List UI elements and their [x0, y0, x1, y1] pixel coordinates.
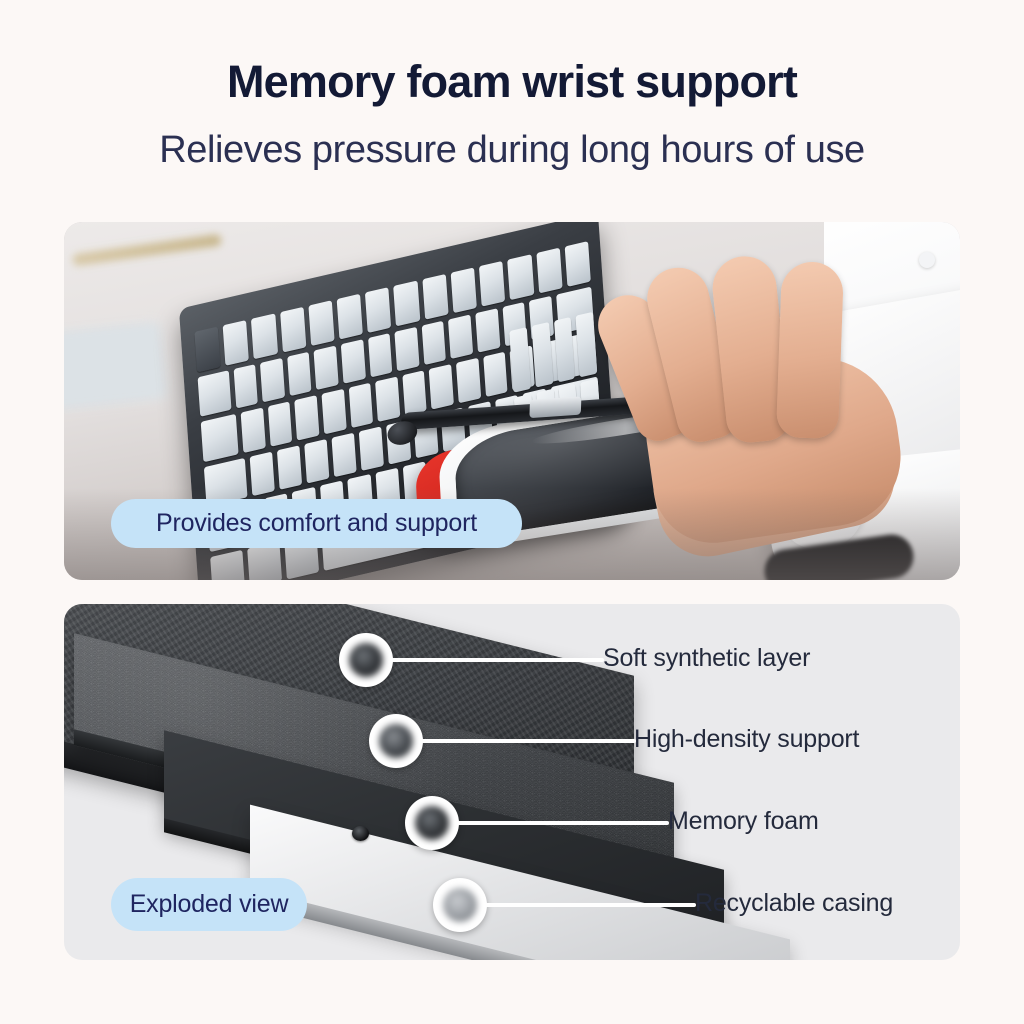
- page-header: Memory foam wrist support Relieves press…: [0, 0, 1024, 169]
- marker-core: [349, 643, 383, 677]
- callout-marker-memory-foam[interactable]: [405, 796, 459, 850]
- badge-provides-comfort[interactable]: Provides comfort and support: [111, 499, 522, 548]
- callout-leader-line: [485, 903, 696, 907]
- callout-marker-high-density-support[interactable]: [369, 714, 423, 768]
- marker-core: [415, 806, 449, 840]
- hand: [609, 244, 909, 484]
- callout-label-soft-synthetic: Soft synthetic layer: [603, 644, 810, 673]
- grommet-stud: [352, 826, 369, 841]
- callout-marker-soft-synthetic[interactable]: [339, 633, 393, 687]
- callout-label-high-density-support: High-density support: [634, 725, 859, 754]
- finger: [776, 261, 844, 439]
- marker-core: [379, 724, 413, 758]
- page-subtitle: Relieves pressure during long hours of u…: [0, 131, 1024, 169]
- stylus-pen-band: [529, 396, 581, 418]
- page-title: Memory foam wrist support: [0, 59, 1024, 104]
- badge-exploded-view[interactable]: Exploded view: [111, 878, 307, 931]
- callout-leader-line: [421, 739, 636, 743]
- callout-leader-line: [391, 658, 604, 662]
- badge-label: Provides comfort and support: [156, 509, 477, 538]
- callout-leader-line: [457, 821, 669, 825]
- marker-core: [443, 888, 477, 922]
- callout-label-recyclable-casing: Recyclable casing: [695, 889, 893, 918]
- callout-label-memory-foam: Memory foam: [668, 807, 819, 836]
- callout-marker-recyclable-casing[interactable]: [433, 878, 487, 932]
- badge-label: Exploded view: [130, 890, 289, 919]
- shirt-button: [919, 252, 935, 268]
- background-paper: [64, 321, 168, 411]
